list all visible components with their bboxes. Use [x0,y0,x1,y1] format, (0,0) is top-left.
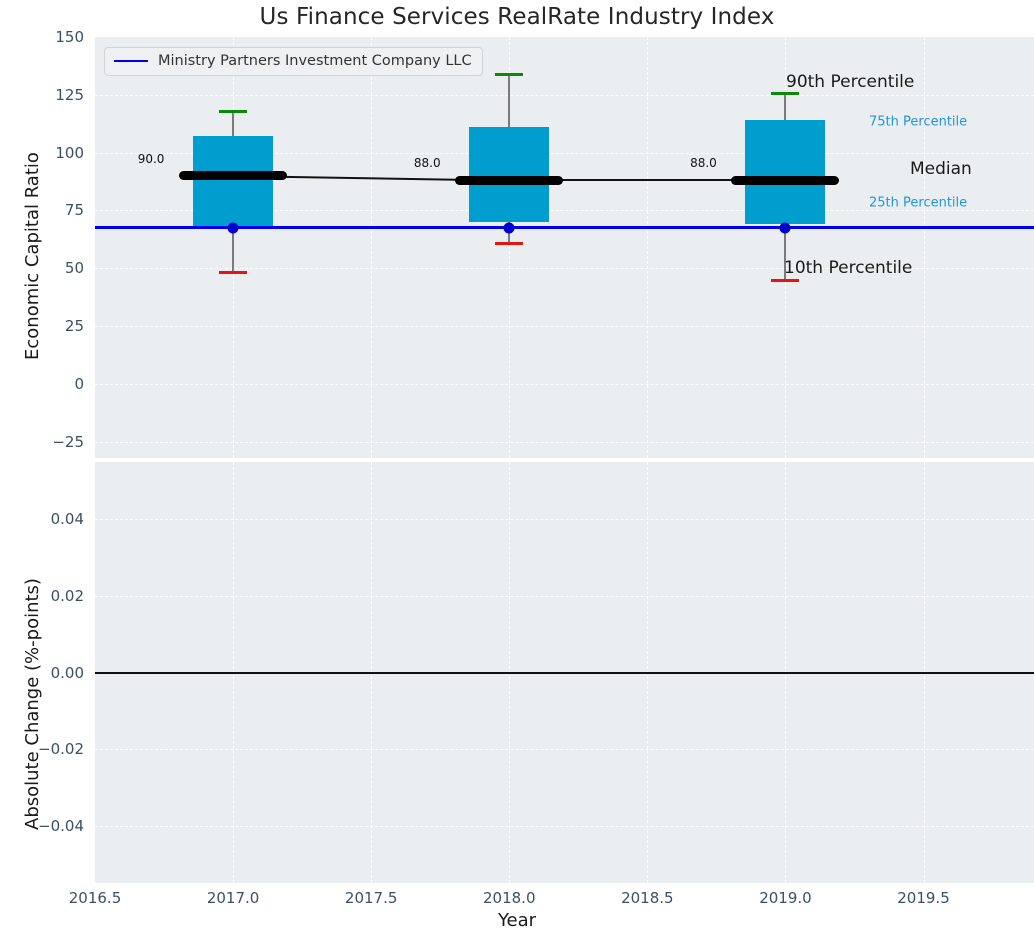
y-tick-label-top: 150 [0,28,84,46]
y-axis-label-bottom: Absolute Change (%-points) [22,578,43,830]
gridline-horizontal [95,95,1034,97]
company-series-point [228,222,239,233]
gridline-vertical [647,37,649,458]
box-interquartile-range [469,127,549,222]
page-title: Us Finance Services RealRate Industry In… [0,4,1034,30]
whisker-cap-p90 [495,73,523,76]
y-axis-label-top: Economic Capital Ratio [22,152,43,360]
gridline-horizontal [95,384,1034,386]
annotation-75th-percentile: 75th Percentile [869,115,967,130]
x-axis-label: Year [0,910,1034,931]
whisker-cap-p10 [219,271,247,274]
x-tick-label: 2018.0 [483,889,536,907]
x-tick-label: 2016.5 [69,889,122,907]
gridline-horizontal [95,326,1034,328]
y-tick-label-top: −25 [0,433,84,451]
gridline-vertical [924,37,926,458]
x-tick-label: 2018.5 [621,889,674,907]
median-bar [455,176,563,185]
median-bar [731,176,839,185]
whisker-cap-p90 [219,110,247,113]
company-series-point [504,222,515,233]
gridline-horizontal [95,826,1034,828]
legend[interactable]: Ministry Partners Investment Company LLC [104,47,483,76]
gridline-horizontal [95,519,1034,521]
legend-line-icon [114,60,148,62]
company-series-point [780,222,791,233]
x-tick-label: 2019.5 [897,889,950,907]
whisker-cap-p10 [495,242,523,245]
zero-reference-line [95,672,1034,674]
box-interquartile-range [745,120,825,224]
annotation-25th-percentile: 25th Percentile [869,196,967,211]
gridline-horizontal [95,442,1034,444]
chart-root: Us Finance Services RealRate Industry In… [0,0,1034,942]
gridline-vertical [371,37,373,458]
box-interquartile-range [193,136,273,226]
plot-panel-economic-capital-ratio [95,37,1034,458]
annotation-median: Median [910,159,972,179]
annotation-10th-percentile: 10th Percentile [784,258,912,278]
gridline-horizontal [95,749,1034,751]
y-tick-label-top: 0 [0,375,84,393]
annotation-90th-percentile: 90th Percentile [786,72,914,92]
median-bar [179,171,287,180]
y-tick-label-bottom: 0.04 [0,510,84,528]
x-tick-label: 2017.5 [345,889,398,907]
median-value-label: 90.0 [138,152,165,166]
whisker-cap-p10 [771,279,799,282]
median-value-label: 88.0 [414,156,441,170]
y-tick-label-top: 125 [0,86,84,104]
gridline-horizontal [95,596,1034,598]
median-value-label: 88.0 [690,156,717,170]
x-tick-label: 2019.0 [759,889,812,907]
x-tick-label: 2017.0 [207,889,260,907]
legend-item-label: Ministry Partners Investment Company LLC [158,53,472,69]
